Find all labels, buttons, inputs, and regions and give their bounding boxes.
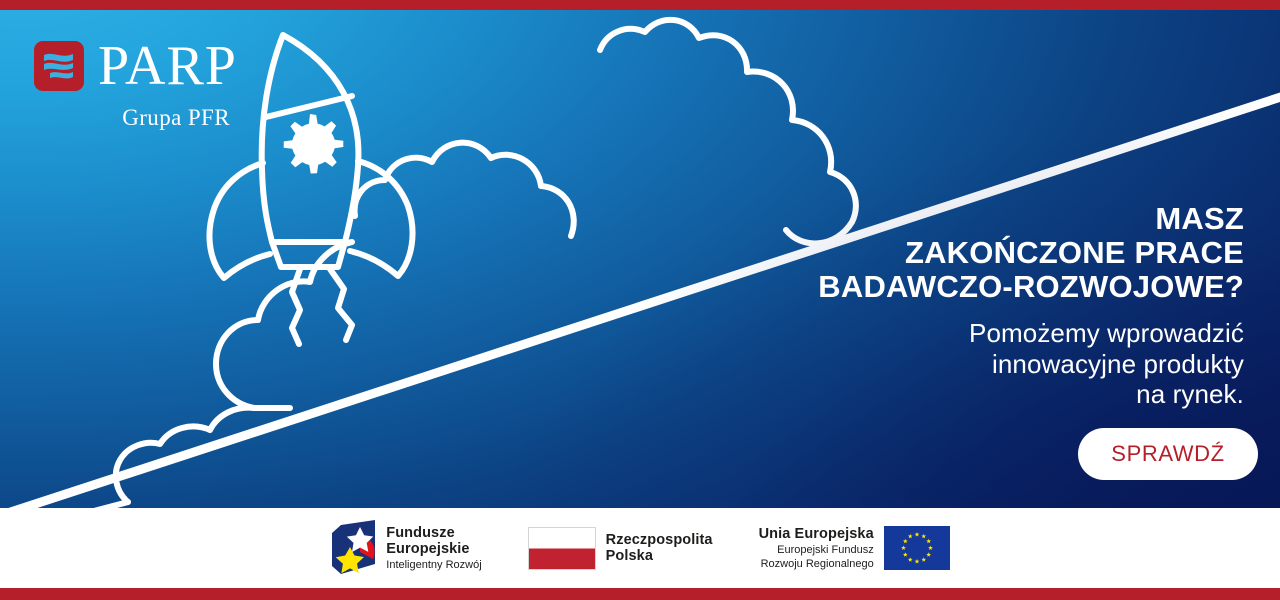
subcopy-line-2: innowacyjne produkty <box>624 349 1244 379</box>
rocket-exhaust-right <box>330 269 352 340</box>
parp-logo[interactable]: PARP Grupa PFR <box>34 38 264 129</box>
logo-unia-europejska: Unia Europejska Europejski Fundusz Rozwo… <box>759 526 950 571</box>
eu-flag-icon <box>884 526 950 570</box>
parp-tagline: Grupa PFR <box>34 106 230 129</box>
rp-line-2: Polska <box>606 548 713 564</box>
unia-europejska-text: Unia Europejska Europejski Fundusz Rozwo… <box>759 526 874 571</box>
logo-fundusze-europejskie: Fundusze Europejskie Inteligentny Rozwój <box>330 519 481 577</box>
headline-line-3: BADAWCZO-ROZWOJOWE? <box>624 270 1244 304</box>
gear-icon <box>284 114 344 174</box>
parp-logo-mark <box>34 41 84 91</box>
poland-flag-icon <box>528 527 596 570</box>
bottom-red-rule <box>0 588 1280 600</box>
subcopy-line-3: na rynek. <box>624 379 1244 409</box>
parp-wordmark: PARP <box>98 38 237 94</box>
fe-line-2: Europejskie <box>386 541 481 557</box>
cloud-lower <box>116 408 254 502</box>
eu-funding-footer: Fundusze Europejskie Inteligentny Rozwój… <box>0 508 1280 588</box>
subcopy-line-1: Pomożemy wprowadzić <box>624 318 1244 348</box>
logo-rzeczpospolita-polska: Rzeczpospolita Polska <box>528 527 713 570</box>
fe-line-1: Fundusze <box>386 525 481 541</box>
hero-stage: PARP Grupa PFR MASZ ZAKOŃCZONE PRACE BAD… <box>0 10 1280 508</box>
rp-line-1: Rzeczpospolita <box>606 532 713 548</box>
headline-line-1: MASZ <box>624 202 1244 236</box>
sprawdz-cta-button[interactable]: SPRAWDŹ <box>1078 428 1258 480</box>
headline-line-2: ZAKOŃCZONE PRACE <box>624 236 1244 270</box>
fundusze-europejskie-mark <box>330 519 376 577</box>
ue-line-3: Rozwoju Regionalnego <box>759 558 874 570</box>
fundusze-europejskie-text: Fundusze Europejskie Inteligentny Rozwój <box>386 525 481 572</box>
ue-line-1: Unia Europejska <box>759 526 874 542</box>
cloud-upper-left <box>355 143 574 236</box>
rocket-nose-line <box>266 96 352 117</box>
hero-copy: MASZ ZAKOŃCZONE PRACE BADAWCZO-ROZWOJOWE… <box>624 202 1244 410</box>
fe-line-3: Inteligentny Rozwój <box>386 559 481 571</box>
parp-promo-banner: PARP Grupa PFR MASZ ZAKOŃCZONE PRACE BAD… <box>0 0 1280 600</box>
headline: MASZ ZAKOŃCZONE PRACE BADAWCZO-ROZWOJOWE… <box>624 202 1244 304</box>
top-red-rule <box>0 0 1280 10</box>
rzeczpospolita-text: Rzeczpospolita Polska <box>606 532 713 564</box>
subcopy: Pomożemy wprowadzić innowacyjne produkty… <box>624 318 1244 409</box>
ue-line-2: Europejski Fundusz <box>759 544 874 556</box>
